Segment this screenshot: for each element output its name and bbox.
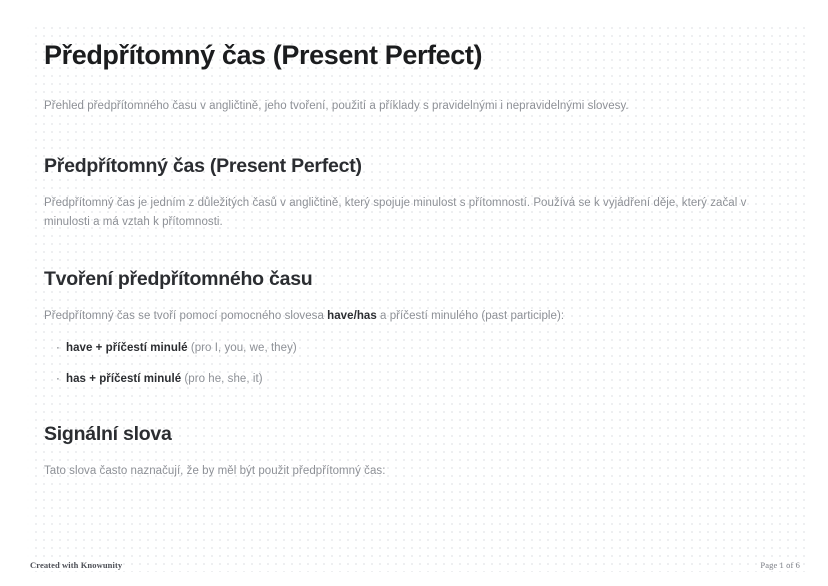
document-content: Předpřítomný čas (Present Perfect) Přehl…: [44, 0, 788, 481]
page-subtitle: Přehled předpřítomného času v angličtině…: [44, 72, 788, 115]
list-item: ·have + příčestí minulé (pro I, you, we,…: [44, 326, 788, 357]
left-margin-band: [24, 0, 34, 586]
list-item-rest: (pro he, she, it): [181, 373, 262, 385]
list-item-lead: have + příčestí minulé: [66, 342, 188, 354]
document-page: Předpřítomný čas (Present Perfect) Přehl…: [0, 0, 828, 586]
paragraph-text-suffix: a příčestí minulého (past participle):: [377, 310, 564, 322]
paragraph-bold-term: have/has: [327, 310, 377, 322]
section-heading: Signální slova: [44, 388, 788, 447]
section-paragraph: Tato slova často naznačují, že by měl bý…: [44, 447, 788, 481]
paragraph-text-prefix: Předpřítomný čas se tvoří pomocí pomocné…: [44, 310, 327, 322]
bullet-marker-icon: ·: [56, 340, 62, 357]
section-present-perfect: Předpřítomný čas (Present Perfect) Předp…: [44, 115, 788, 232]
section-paragraph: Předpřítomný čas se tvoří pomocí pomocné…: [44, 292, 788, 326]
bullet-marker-icon: ·: [56, 371, 62, 388]
list-item-rest: (pro I, you, we, they): [188, 342, 297, 354]
footer-attribution: Created with Knowunity: [30, 560, 122, 570]
formation-bullet-list: ·have + příčestí minulé (pro I, you, we,…: [44, 326, 788, 388]
list-item: ·has + příčestí minulé (pro he, she, it): [44, 357, 788, 388]
section-heading: Předpřítomný čas (Present Perfect): [44, 115, 788, 179]
section-heading: Tvoření předpřítomného času: [44, 232, 788, 292]
section-formation: Tvoření předpřítomného času Předpřítomný…: [44, 232, 788, 388]
footer-page-number: Page 1 of 6: [760, 560, 800, 570]
section-paragraph: Předpřítomný čas je jedním z důležitých …: [44, 179, 788, 232]
page-footer: Created with Knowunity Page 1 of 6: [0, 552, 828, 586]
section-signal-words: Signální slova Tato slova často naznačuj…: [44, 388, 788, 481]
page-title: Předpřítomný čas (Present Perfect): [44, 0, 788, 72]
list-item-lead: has + příčestí minulé: [66, 373, 181, 385]
